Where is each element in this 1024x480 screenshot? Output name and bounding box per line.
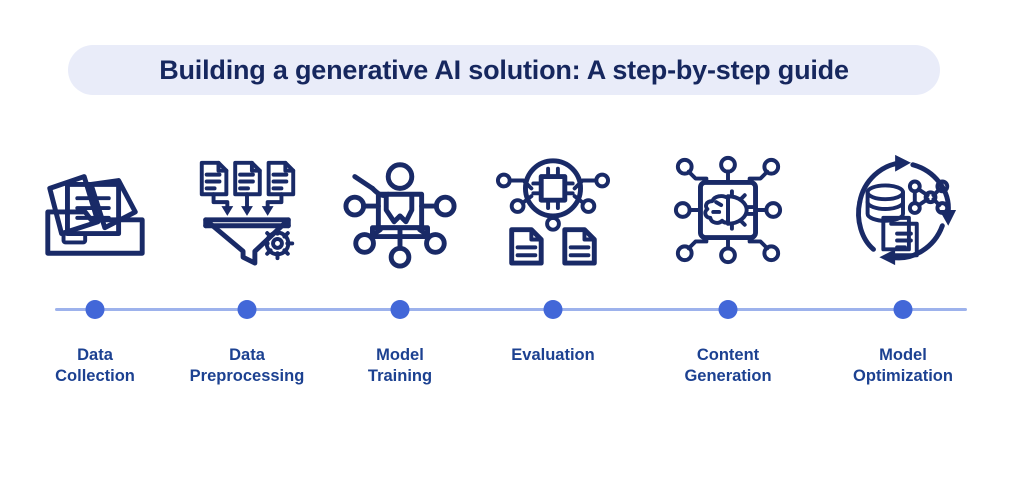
infographic-canvas: Building a generative AI solution: A ste… bbox=[0, 0, 1024, 480]
step-model-optimization: Model Optimization bbox=[818, 145, 988, 275]
timeline-dot-1 bbox=[86, 300, 105, 319]
step-label-evaluation: Evaluation bbox=[458, 345, 648, 366]
timeline-dot-5 bbox=[719, 300, 738, 319]
step-label-model-optimization: Model Optimization bbox=[808, 345, 998, 386]
documents-funnel-gear-icon bbox=[182, 145, 312, 275]
step-data-collection: Data Collection bbox=[10, 145, 180, 275]
chip-brain-gear-icon bbox=[663, 145, 793, 275]
step-model-training: Model Training bbox=[315, 145, 485, 275]
timeline-dot-2 bbox=[238, 300, 257, 319]
page-title: Building a generative AI solution: A ste… bbox=[159, 55, 849, 86]
step-content-generation: Content Generation bbox=[643, 145, 813, 275]
timeline-dot-4 bbox=[544, 300, 563, 319]
timeline-line bbox=[55, 308, 967, 311]
cycle-database-network-documents-icon bbox=[838, 145, 968, 275]
step-label-content-generation: Content Generation bbox=[633, 345, 823, 386]
folder-with-documents-icon bbox=[30, 145, 160, 275]
step-data-preprocessing: Data Preprocessing bbox=[162, 145, 332, 275]
step-evaluation: Evaluation bbox=[468, 145, 638, 275]
trainer-presenting-network-icon bbox=[335, 145, 465, 275]
timeline-dot-6 bbox=[894, 300, 913, 319]
title-banner: Building a generative AI solution: A ste… bbox=[68, 45, 940, 95]
timeline-dot-3 bbox=[391, 300, 410, 319]
chip-circle-documents-icon bbox=[488, 145, 618, 275]
